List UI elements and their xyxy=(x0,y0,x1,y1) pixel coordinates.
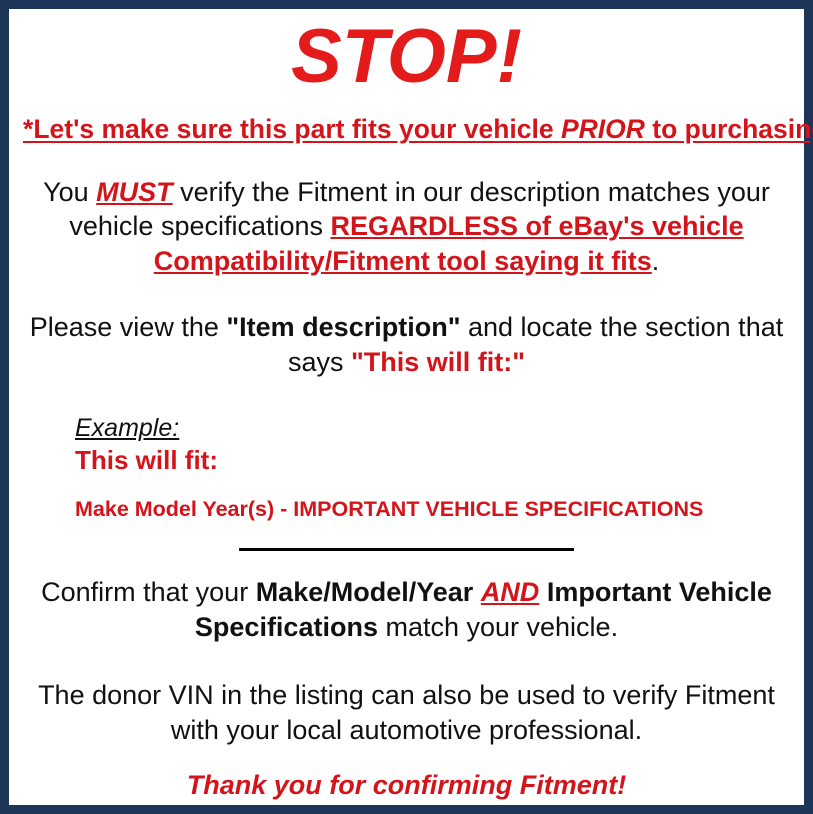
must-paragraph-part1: You xyxy=(43,177,96,207)
tagline: *Let's make sure this part fits your veh… xyxy=(23,96,790,144)
view-description-paragraph: Please view the "Item description" and l… xyxy=(23,278,790,379)
donor-vin-paragraph: The donor VIN in the listing can also be… xyxy=(23,644,790,747)
confirm-space-1 xyxy=(473,577,481,607)
stop-heading: STOP! xyxy=(23,9,790,96)
make-model-year-emphasis: Make/Model/Year xyxy=(256,577,474,607)
example-spec-line: Make Model Year(s) - IMPORTANT VEHICLE S… xyxy=(75,476,790,523)
confirm-paragraph: Confirm that your Make/Model/Year AND Im… xyxy=(23,551,790,644)
must-paragraph-part3: . xyxy=(652,246,660,276)
tagline-suffix: to purchasing* xyxy=(645,114,813,144)
example-label-row: Example: xyxy=(75,413,790,443)
must-emphasis: MUST xyxy=(96,177,173,207)
confirm-space-2 xyxy=(539,577,547,607)
example-fit-line: This will fit: xyxy=(75,443,790,476)
divider-wrap xyxy=(23,523,790,551)
tagline-prefix: *Let's make sure this part fits your veh… xyxy=(23,114,561,144)
must-verify-paragraph: You MUST verify the Fitment in our descr… xyxy=(23,145,790,279)
example-block: Example: This will fit: Make Model Year(… xyxy=(23,379,790,523)
view-paragraph-part1: Please view the xyxy=(30,312,227,342)
this-will-fit-quote: "This will fit:" xyxy=(351,347,525,377)
example-label: Example: xyxy=(75,413,179,443)
item-description-emphasis: "Item description" xyxy=(226,312,460,342)
confirm-paragraph-part1: Confirm that your xyxy=(41,577,256,607)
fitment-notice-card: STOP! *Let's make sure this part fits yo… xyxy=(0,0,813,814)
confirm-paragraph-part2: match your vehicle. xyxy=(378,612,618,642)
and-emphasis: AND xyxy=(481,577,540,607)
thank-you-line: Thank you for confirming Fitment! xyxy=(23,747,790,801)
tagline-prior-emphasis: PRIOR xyxy=(561,114,645,144)
